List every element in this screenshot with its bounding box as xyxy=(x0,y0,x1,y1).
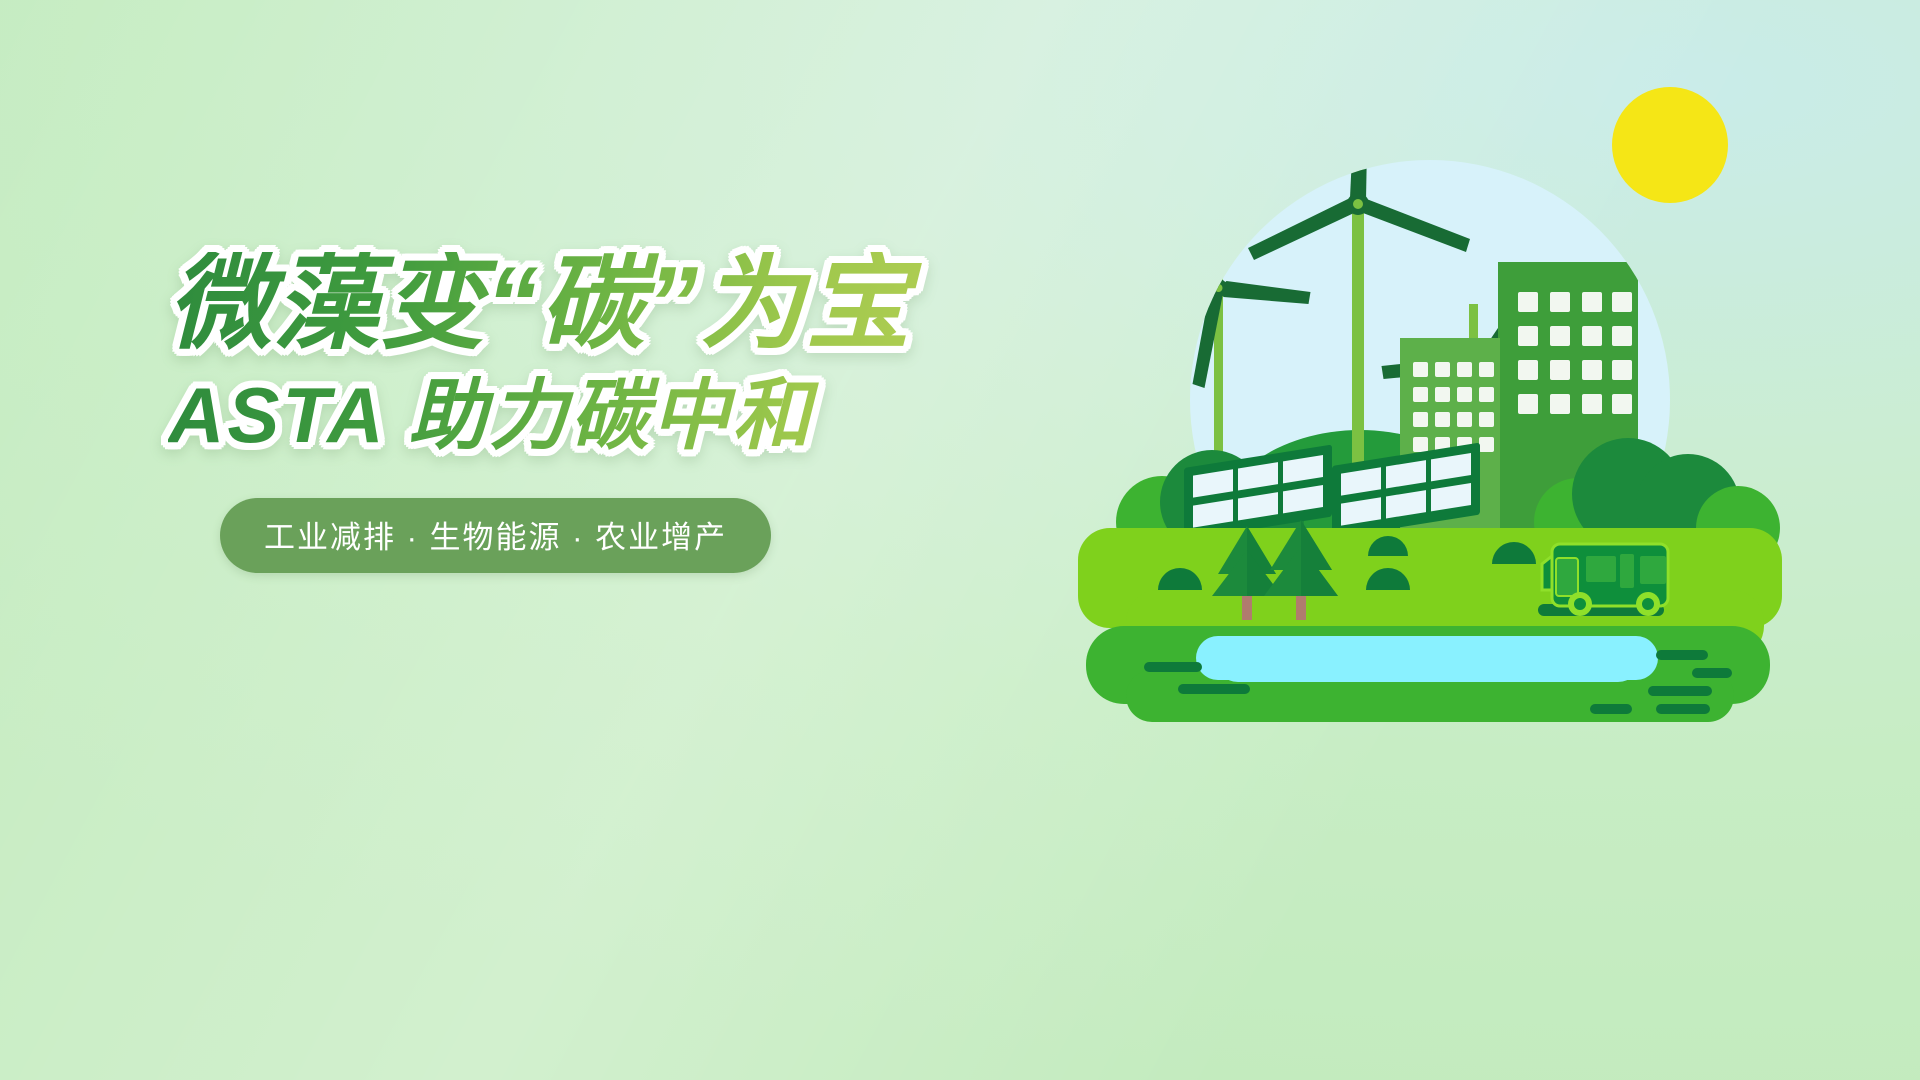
page-subtitle: ASTA 助力碳中和 xyxy=(168,376,928,454)
sun-icon xyxy=(1612,87,1728,203)
tagline-badge: 工业减排 · 生物能源 · 农业增产 xyxy=(220,498,771,573)
page-title: 微藻变“碳”为宝 xyxy=(168,252,928,356)
eco-banner: 微藻变“碳”为宝 ASTA 助力碳中和 工业减排 · 生物能源 · 农业增产 xyxy=(0,0,1920,1080)
eco-city-illustration xyxy=(1100,70,1820,790)
bus xyxy=(1538,544,1668,616)
headline-block: 微藻变“碳”为宝 ASTA 助力碳中和 工业减排 · 生物能源 · 农业增产 xyxy=(168,252,928,573)
